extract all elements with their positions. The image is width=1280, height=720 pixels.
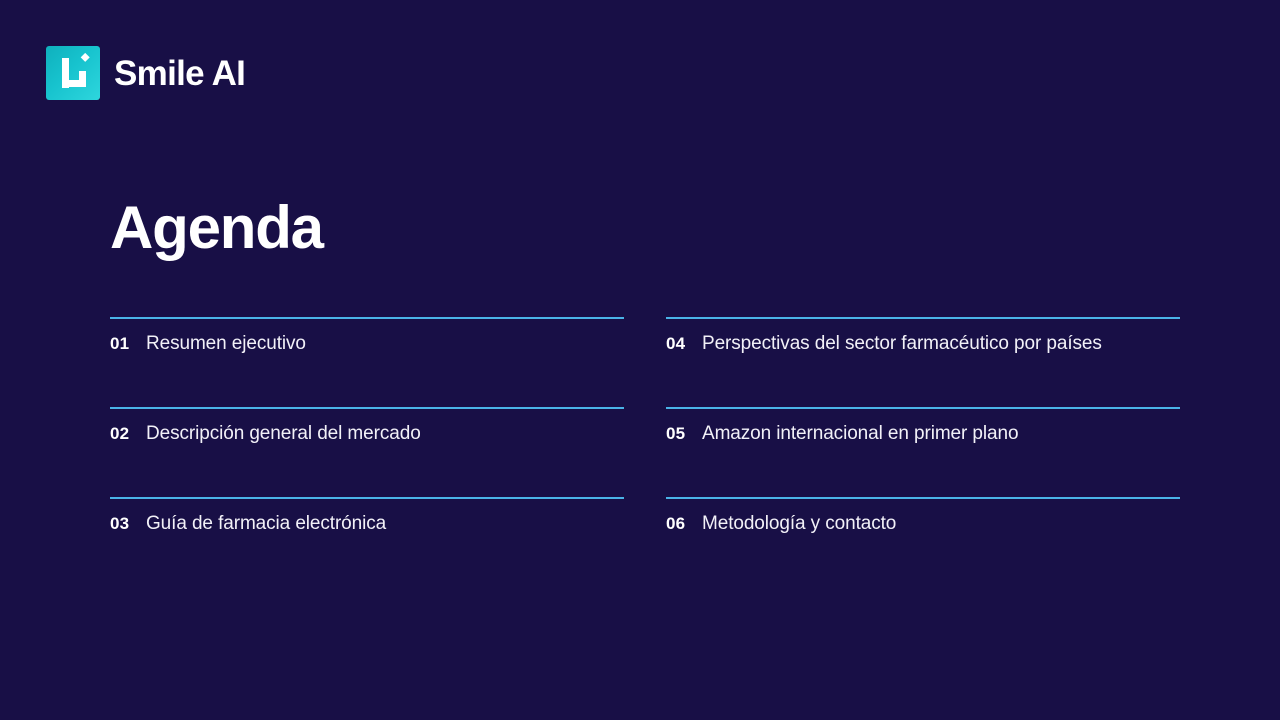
agenda-item-number: 04	[666, 331, 690, 357]
agenda-item-number: 06	[666, 511, 690, 537]
agenda-item-number: 02	[110, 421, 134, 447]
agenda-item-number: 03	[110, 511, 134, 537]
agenda-item-label: Perspectivas del sector farmacéutico por…	[702, 331, 1102, 357]
list-item[interactable]: 04 Perspectivas del sector farmacéutico …	[666, 317, 1180, 407]
list-item[interactable]: 02 Descripción general del mercado	[110, 407, 624, 497]
page-title: Agenda	[110, 196, 323, 259]
agenda-item-label: Metodología y contacto	[702, 511, 896, 537]
list-item[interactable]: 05 Amazon internacional en primer plano	[666, 407, 1180, 497]
list-item[interactable]: 01 Resumen ejecutivo	[110, 317, 624, 407]
smile-ai-logo-icon	[46, 46, 100, 100]
agenda-item-number: 01	[110, 331, 134, 357]
agenda-column-left: 01 Resumen ejecutivo 02 Descripción gene…	[110, 317, 624, 587]
agenda-item-label: Amazon internacional en primer plano	[702, 421, 1018, 447]
list-item[interactable]: 06 Metodología y contacto	[666, 497, 1180, 587]
agenda-column-right: 04 Perspectivas del sector farmacéutico …	[666, 317, 1180, 587]
agenda-item-label: Descripción general del mercado	[146, 421, 421, 447]
brand-lockup: Smile AI	[46, 46, 245, 100]
agenda-item-number: 05	[666, 421, 690, 447]
agenda-slide: Smile AI Agenda 01 Resumen ejecutivo 02 …	[0, 0, 1280, 720]
agenda-item-label: Resumen ejecutivo	[146, 331, 306, 357]
list-item[interactable]: 03 Guía de farmacia electrónica	[110, 497, 624, 587]
agenda-list: 01 Resumen ejecutivo 02 Descripción gene…	[110, 317, 1180, 587]
brand-name: Smile AI	[114, 56, 245, 91]
agenda-item-label: Guía de farmacia electrónica	[146, 511, 386, 537]
